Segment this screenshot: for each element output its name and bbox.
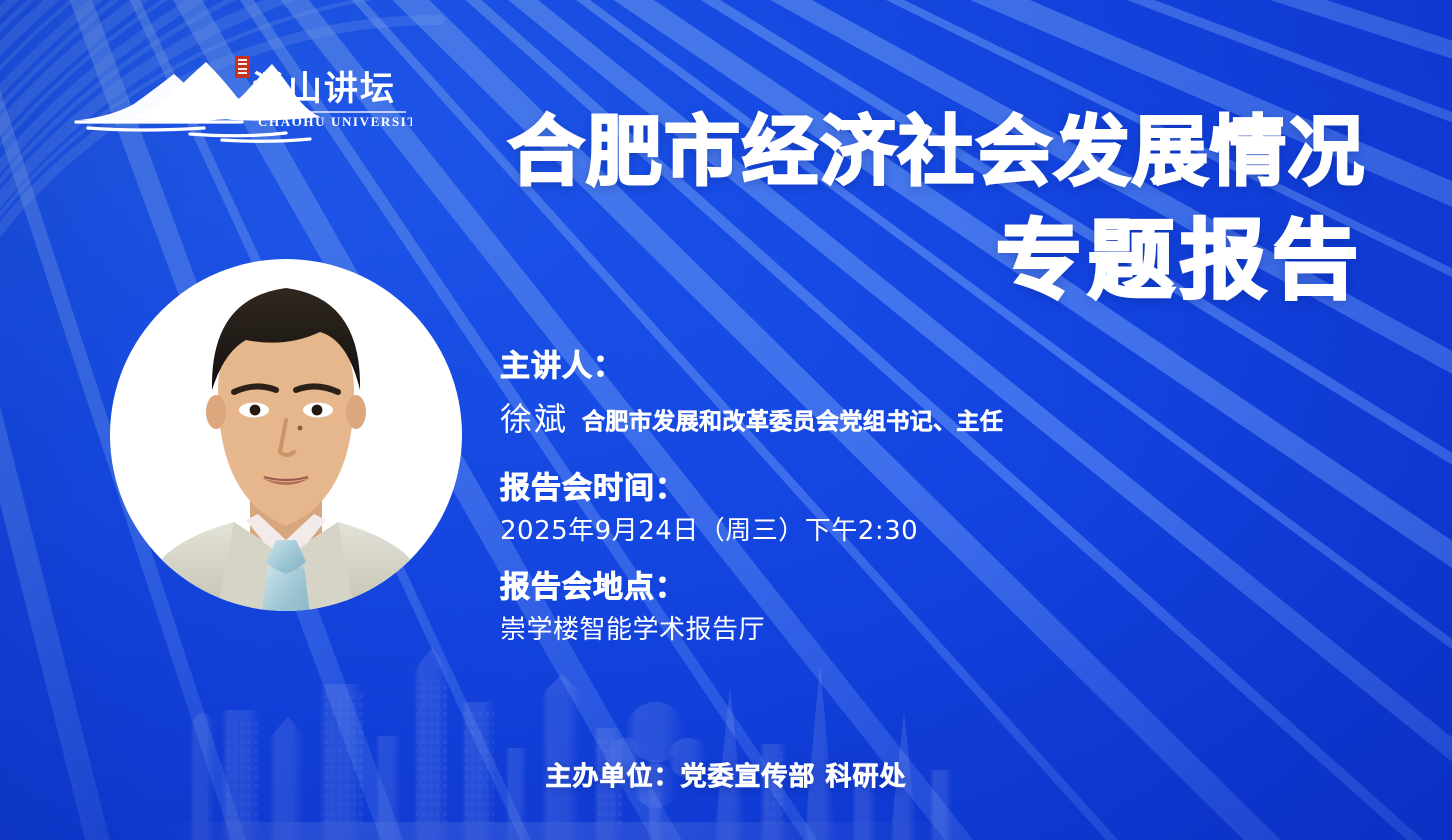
speaker-title: 合肥市发展和改革委员会党组书记、主任	[582, 402, 1003, 436]
logo-brand-cn: 汤山讲坛	[252, 69, 396, 109]
event-poster: 汤山讲坛 CHAOHU UNIVERSITY 合肥市经济社会发展情况 专题报告	[0, 0, 1452, 840]
speaker-label: 主讲人：	[500, 348, 1300, 386]
logo-brand-en: CHAOHU UNIVERSITY	[258, 114, 412, 129]
red-seal	[235, 56, 250, 78]
tangshan-forum-logo: 汤山讲坛 CHAOHU UNIVERSITY	[72, 54, 412, 146]
time-value: 2025年9月24日（周三）下午2:30	[500, 515, 1300, 549]
organizer-footer: 主办单位：党委宣传部 科研处	[0, 756, 1452, 793]
organizer-text: 主办单位：党委宣传部 科研处	[545, 762, 906, 792]
place-label: 报告会地点：	[500, 569, 1300, 607]
speaker-row: 徐斌 合肥市发展和改革委员会党组书记、主任	[500, 394, 1300, 440]
poster-headline: 合肥市经济社会发展情况 专题报告	[420, 112, 1370, 306]
headline-main: 合肥市经济社会发展情况	[420, 112, 1370, 191]
time-label: 报告会时间：	[500, 470, 1300, 508]
place-value: 崇学楼智能学术报告厅	[500, 614, 1300, 648]
headline-sub: 专题报告	[420, 217, 1370, 306]
speaker-name: 徐斌	[500, 394, 568, 440]
event-info: 主讲人： 徐斌 合肥市发展和改革委员会党组书记、主任 报告会时间： 2025年9…	[500, 348, 1300, 648]
speaker-portrait	[110, 240, 462, 630]
